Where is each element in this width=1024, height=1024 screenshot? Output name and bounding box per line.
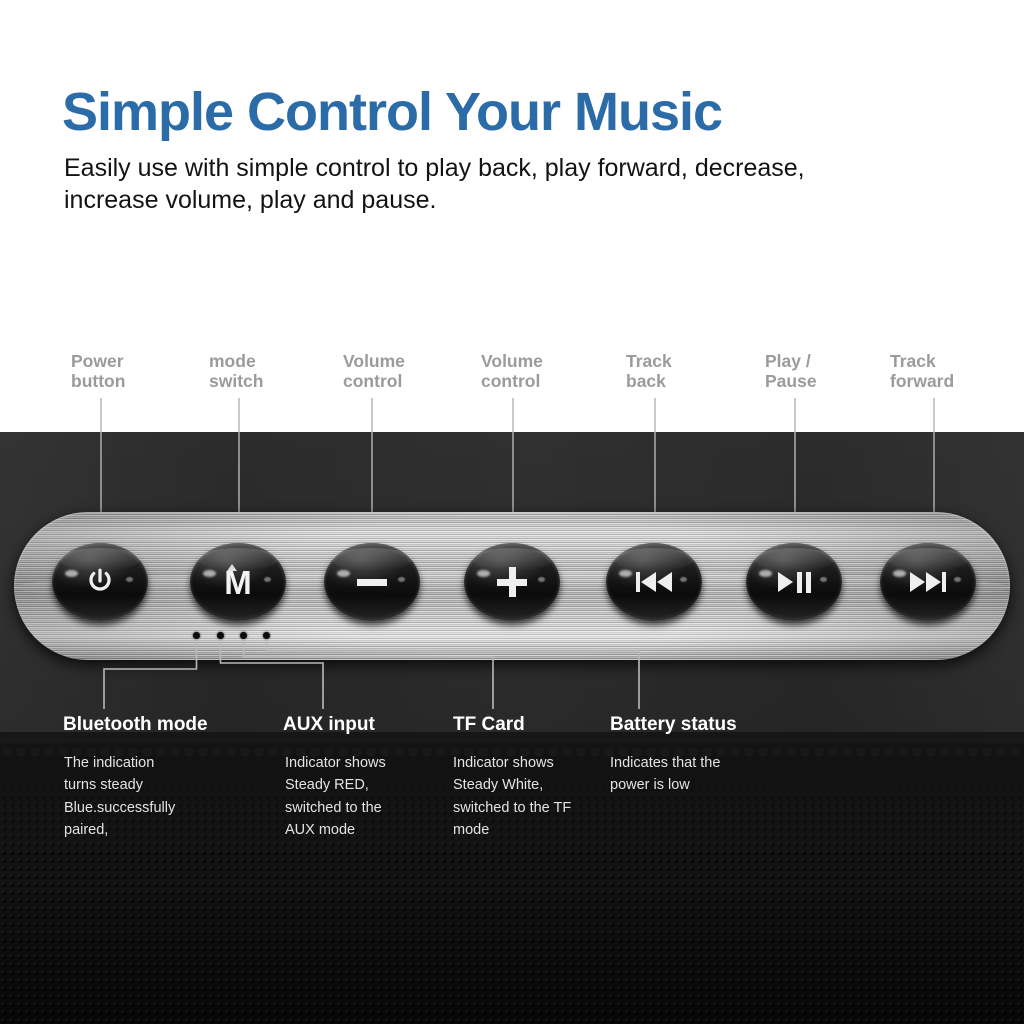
previous-track-icon	[636, 572, 672, 592]
callout-label-mode-switch: mode switch	[209, 351, 263, 392]
button-highlight-small	[398, 577, 405, 582]
mode-tick-icon	[227, 564, 237, 571]
mode-switch-button[interactable]: M	[190, 543, 286, 621]
leader-line-volume-down	[371, 398, 373, 432]
led-tf-card	[240, 632, 247, 639]
track-forward-button[interactable]	[880, 543, 976, 621]
speaker-body: M	[0, 432, 1024, 1024]
button-highlight	[65, 570, 78, 577]
button-highlight	[203, 570, 216, 577]
indicator-desc-bluetooth: The indication turns steady Blue.success…	[64, 752, 175, 841]
leader-line-mode-switch	[238, 398, 240, 432]
callout-label-play-pause: Play / Pause	[765, 351, 817, 392]
leader-line-volume-up	[512, 398, 514, 432]
indicator-title-battery: Battery status	[610, 714, 737, 736]
control-panel: M	[14, 512, 1010, 660]
button-highlight	[337, 570, 350, 577]
button-sheen	[888, 548, 969, 571]
indicator-title-tf-card: TF Card	[453, 714, 525, 736]
button-highlight-small	[820, 577, 827, 582]
button-highlight	[619, 570, 632, 577]
plus-icon	[497, 567, 527, 597]
led-bluetooth	[193, 632, 200, 639]
mode-m-icon: M	[224, 566, 252, 599]
track-back-button[interactable]	[606, 543, 702, 621]
page-title: Simple Control Your Music	[62, 84, 962, 141]
indicator-desc-aux: Indicator shows Steady RED, switched to …	[285, 752, 386, 841]
button-highlight	[477, 570, 490, 577]
indicator-title-aux: AUX input	[283, 714, 375, 736]
button-highlight	[893, 570, 906, 577]
button-highlight-small	[954, 577, 961, 582]
button-sheen	[332, 548, 413, 571]
callout-label-track-forward: Track forward	[890, 351, 954, 392]
button-highlight-small	[126, 577, 133, 582]
callout-label-power-button: Power button	[71, 351, 125, 392]
volume-up-button[interactable]	[464, 543, 560, 621]
play-pause-icon	[778, 572, 811, 593]
leader-line-play-pause	[794, 398, 796, 432]
button-sheen	[614, 548, 695, 571]
callout-label-track-back: Track back	[626, 351, 672, 392]
button-highlight	[759, 570, 772, 577]
button-sheen	[754, 548, 835, 571]
leader-line-track-back	[654, 398, 656, 432]
callout-label-volume-down: Volume control	[343, 351, 405, 392]
indicator-title-bluetooth: Bluetooth mode	[63, 714, 208, 736]
next-track-icon	[910, 572, 946, 592]
button-highlight-small	[680, 577, 687, 582]
led-aux	[217, 632, 224, 639]
volume-down-button[interactable]	[324, 543, 420, 621]
led-battery	[263, 632, 270, 639]
play-pause-button[interactable]	[746, 543, 842, 621]
button-highlight-small	[264, 577, 271, 582]
page-subtitle: Easily use with simple control to play b…	[64, 152, 854, 216]
leader-line-power-button	[100, 398, 102, 432]
minus-icon	[357, 579, 387, 586]
product-infographic: Simple Control Your Music Easily use wit…	[0, 0, 1024, 1024]
button-highlight-small	[538, 577, 545, 582]
indicator-desc-tf-card: Indicator shows Steady White, switched t…	[453, 752, 571, 841]
power-icon	[85, 567, 115, 597]
callout-label-volume-up: Volume control	[481, 351, 543, 392]
power-button[interactable]	[52, 543, 148, 621]
leader-line-track-forward	[933, 398, 935, 432]
indicator-desc-battery: Indicates that the power is low	[610, 752, 720, 797]
